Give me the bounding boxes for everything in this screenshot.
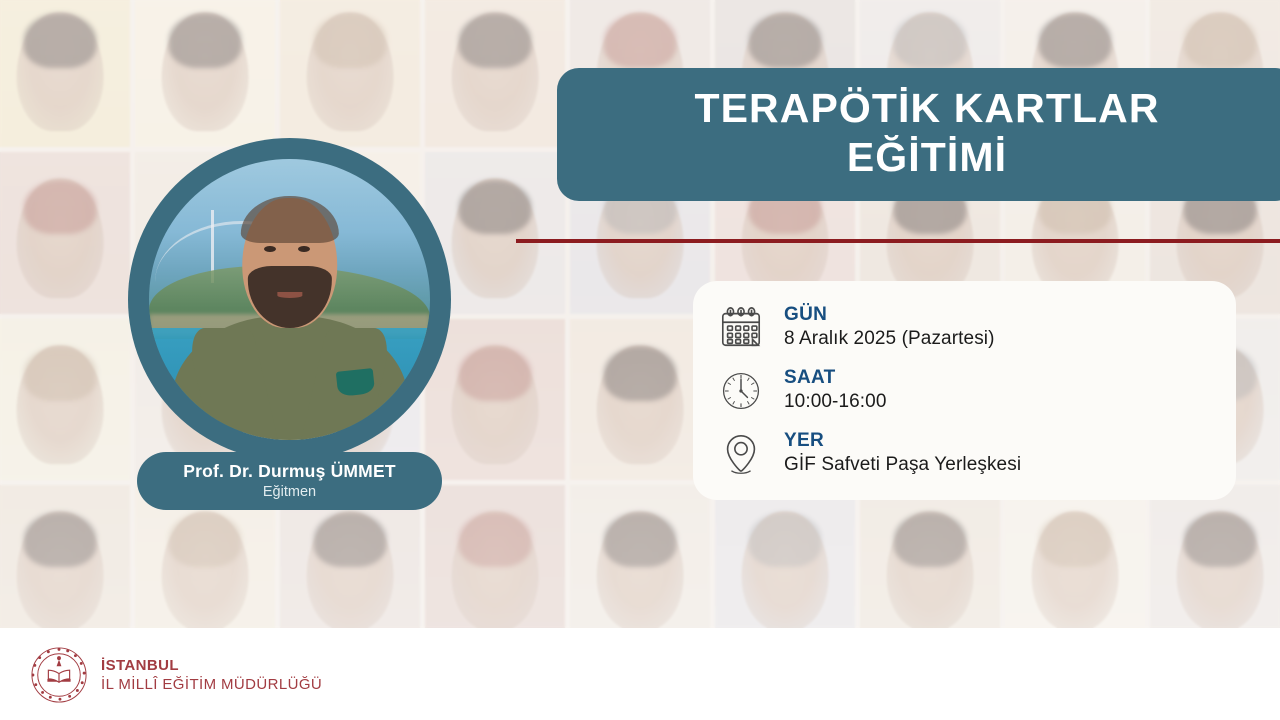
title-line-2: EĞİTİMİ (847, 133, 1007, 181)
detail-row-place: YER GİF Safveti Paşa Yerleşkesi (715, 422, 1214, 485)
detail-text-place: YER GİF Safveti Paşa Yerleşkesi (784, 430, 1021, 477)
meb-logo: İSTANBUL İL MİLLÎ EĞİTİM MÜDÜRLÜĞÜ (30, 646, 322, 704)
title-panel: TERAPÖTİK KARTLAR EĞİTİMİ (557, 68, 1280, 201)
detail-row-day: GÜN 8 Aralık 2025 (Pazartesi) (715, 296, 1214, 359)
detail-value-day: 8 Aralık 2025 (Pazartesi) (784, 328, 995, 351)
detail-row-time: SAAT 10:00-16:00 (715, 359, 1214, 422)
footer-bar: İSTANBUL İL MİLLÎ EĞİTİM MÜDÜRLÜĞÜ (0, 628, 1280, 720)
speaker-name-plate: Prof. Dr. Durmuş ÜMMET Eğitmen (137, 452, 442, 510)
detail-value-place: GİF Safveti Paşa Yerleşkesi (784, 454, 1021, 477)
person-hair (240, 196, 338, 244)
red-divider-line (516, 239, 1280, 243)
person-figure (149, 159, 430, 440)
detail-label-place: YER (784, 430, 1021, 452)
meb-line-2: İL MİLLÎ EĞİTİM MÜDÜRLÜĞÜ (101, 676, 322, 693)
detail-label-day: GÜN (784, 304, 995, 326)
speaker-portrait (128, 138, 451, 461)
meb-logo-text: İSTANBUL İL MİLLÎ EĞİTİM MÜDÜRLÜĞÜ (101, 657, 322, 693)
meb-seal-icon (30, 646, 88, 704)
calendar-icon (715, 302, 767, 354)
speaker-name: Prof. Dr. Durmuş ÜMMET (183, 461, 395, 482)
event-details-card: GÜN 8 Aralık 2025 (Pazartesi) SAAT 10:00… (693, 281, 1236, 500)
clock-icon (715, 365, 767, 417)
detail-value-time: 10:00-16:00 (784, 391, 887, 414)
speaker-role: Eğitmen (263, 483, 316, 502)
location-pin-icon (715, 428, 767, 480)
portrait-photo (149, 159, 430, 440)
title-line-1: TERAPÖTİK KARTLAR (694, 84, 1159, 132)
detail-text-time: SAAT 10:00-16:00 (784, 367, 887, 414)
detail-label-time: SAAT (784, 367, 887, 389)
event-poster: TERAPÖTİK KARTLAR EĞİTİMİ (0, 0, 1280, 720)
detail-text-day: GÜN 8 Aralık 2025 (Pazartesi) (784, 304, 995, 351)
meb-line-1: İSTANBUL (101, 657, 322, 674)
